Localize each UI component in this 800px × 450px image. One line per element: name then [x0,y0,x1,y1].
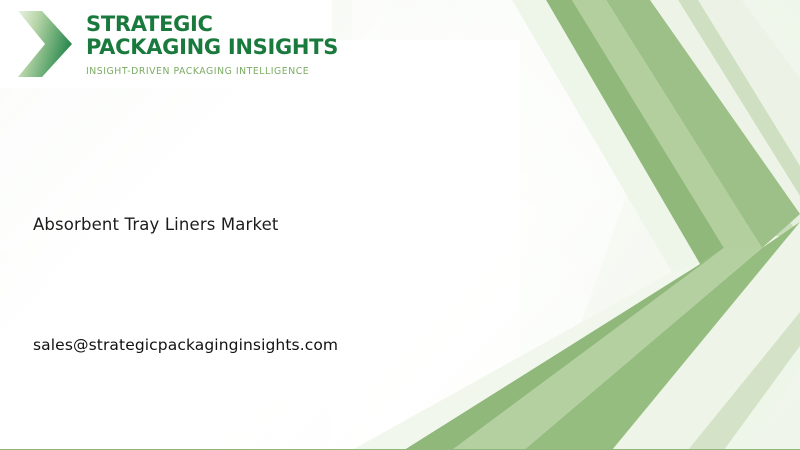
report-title: Absorbent Tray Liners Market [33,214,279,236]
background-sheen [0,40,520,450]
logo-wordmark: STRATEGIC PACKAGING INSIGHTS INSIGHT-DRI… [86,11,338,78]
logo-tagline: INSIGHT-DRIVEN PACKAGING INTELLIGENCE [86,66,338,78]
logo-line-1: STRATEGIC [86,13,338,36]
slide-canvas: STRATEGIC PACKAGING INSIGHTS INSIGHT-DRI… [0,0,800,450]
logo-line-2: PACKAGING INSIGHTS [86,36,338,59]
contact-email: sales@strategicpackaginginsights.com [33,334,338,356]
chevron-arrow-mark-icon [14,7,76,81]
logo-panel: STRATEGIC PACKAGING INSIGHTS INSIGHT-DRI… [0,0,332,88]
